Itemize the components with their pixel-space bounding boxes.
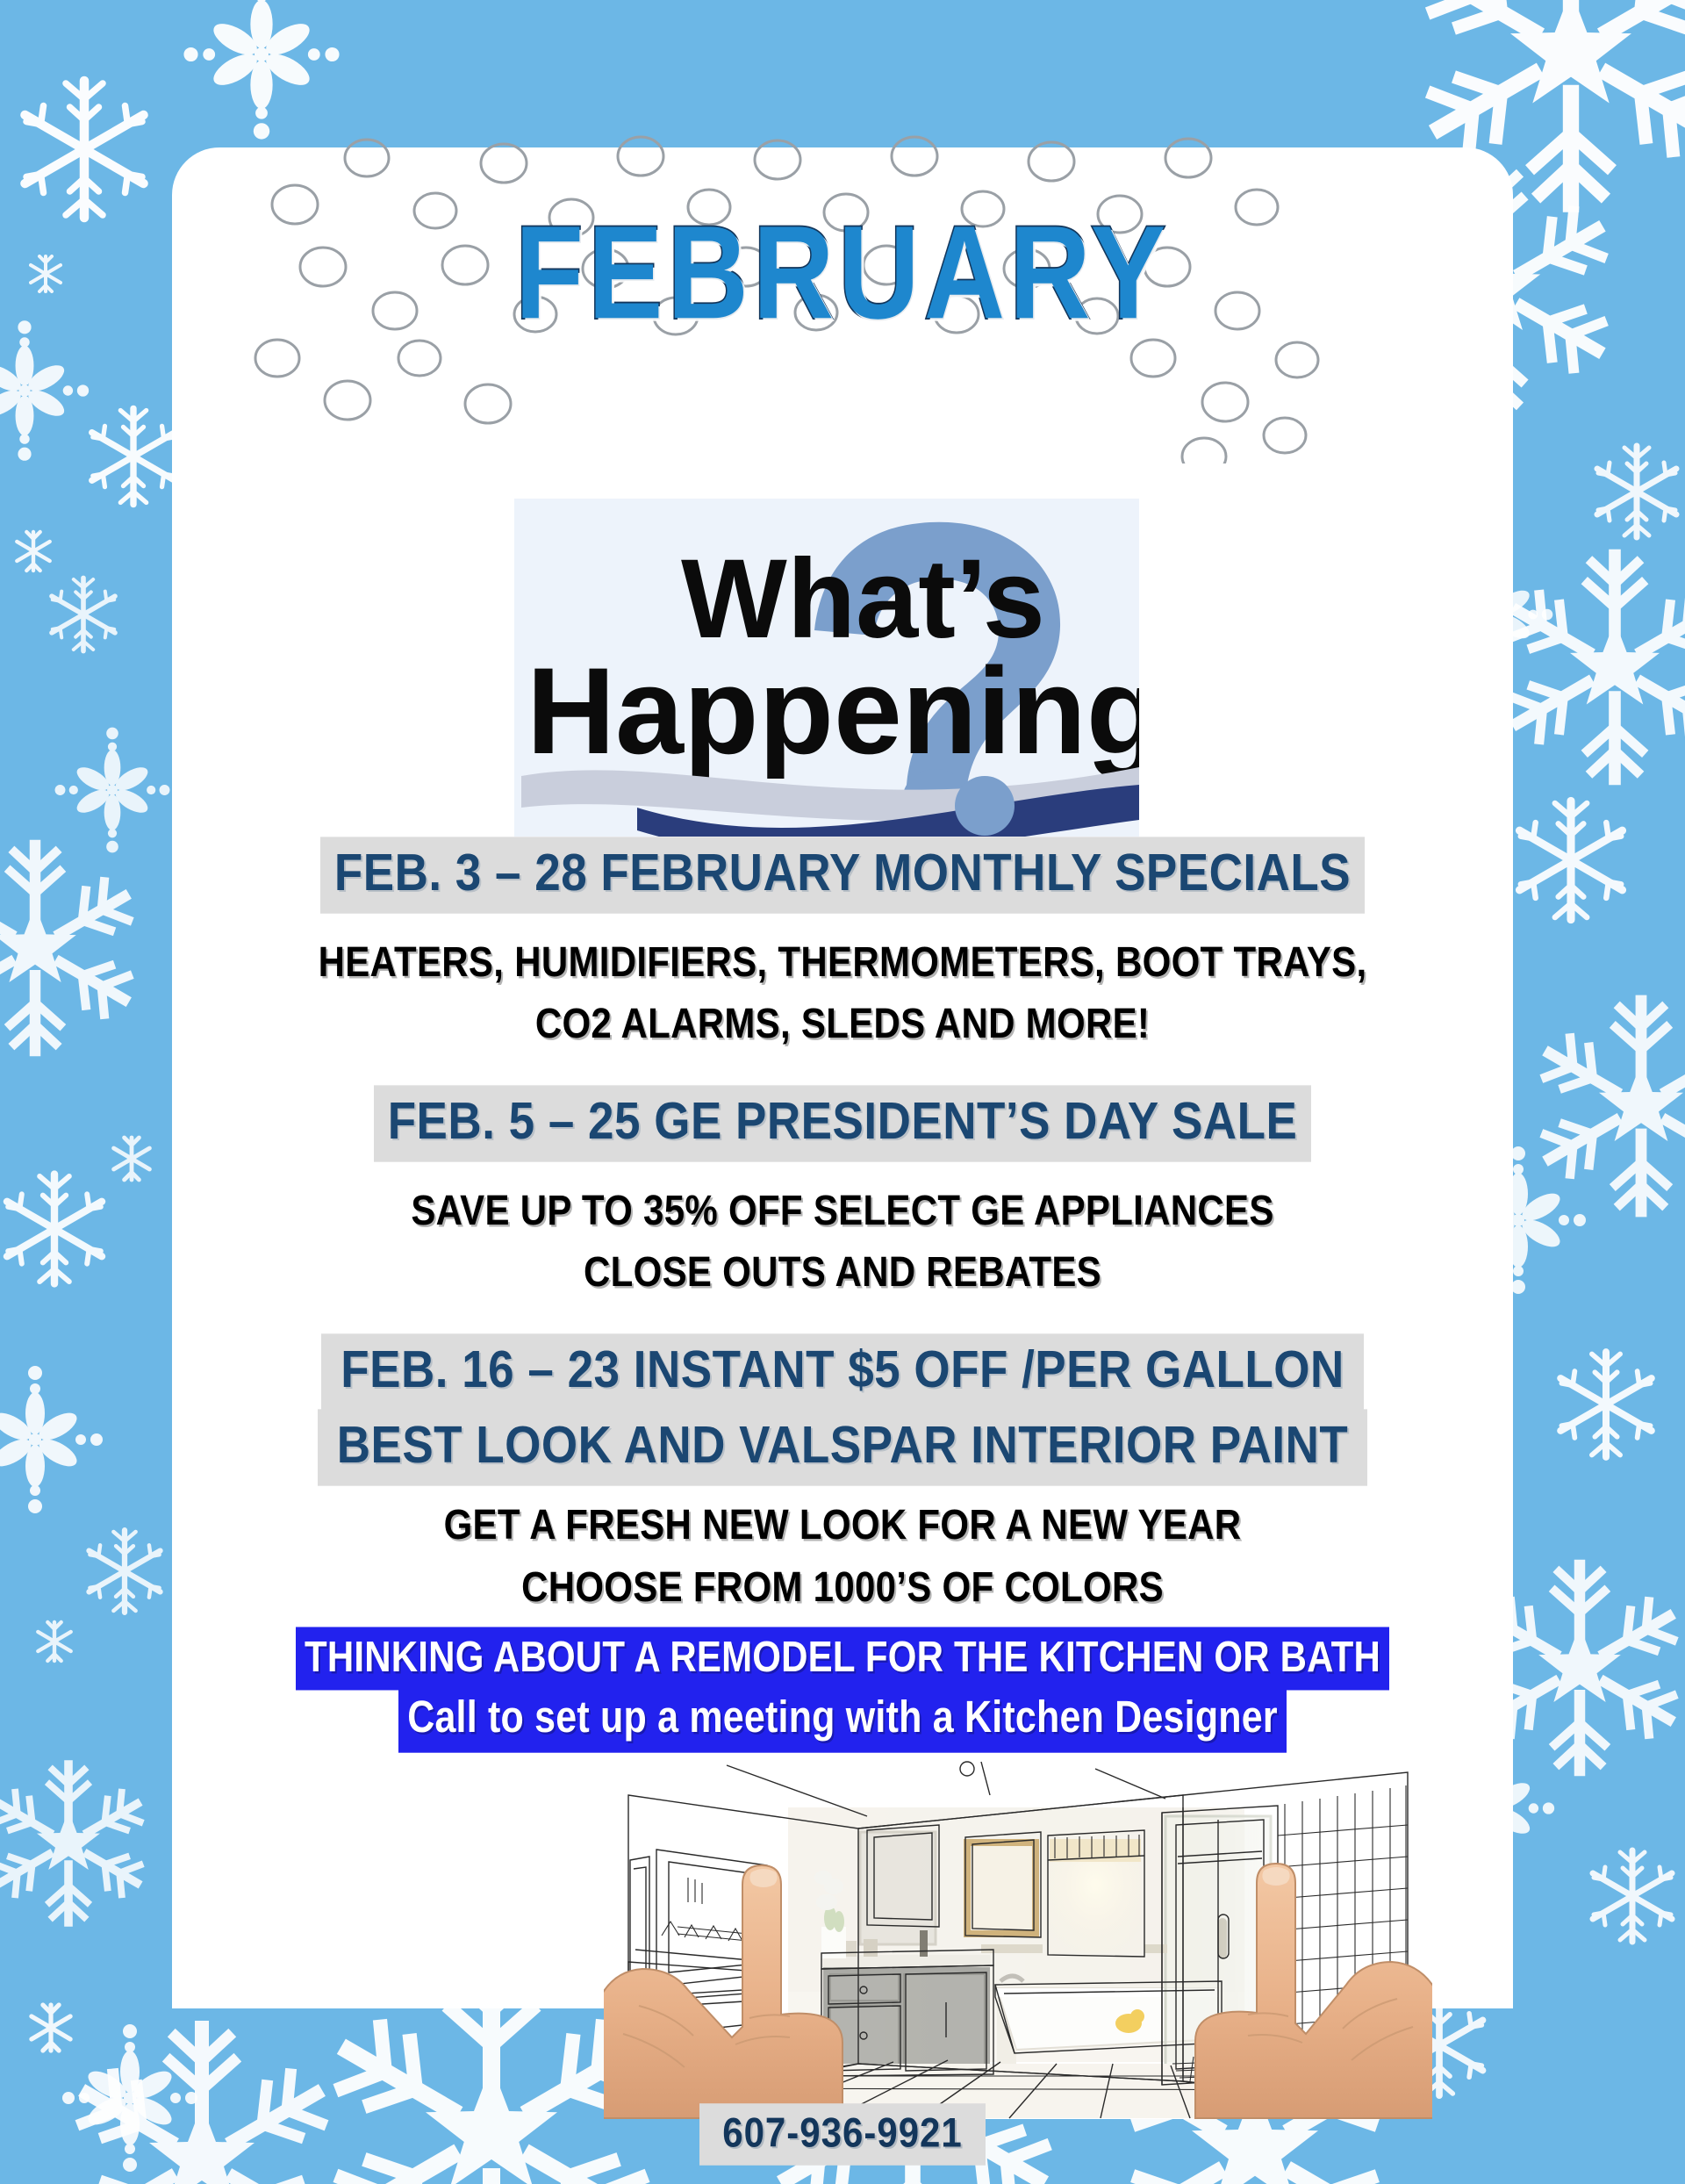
phone-number[interactable]: 607-936-9921 <box>699 2103 986 2166</box>
section-ge-presidents-day: FEB. 5 – 25 GE PRESIDENT’S DAY SALE SAVE… <box>172 1089 1513 1297</box>
phone-number-row: 607-936-9921 <box>172 2107 1513 2162</box>
section-heading-band: FEB. 3 – 28 FEBRUARY MONTHLY SPECIALS <box>320 837 1365 913</box>
logo-line-2: Happening <box>527 642 1139 779</box>
section-detail-line: CO2 ALARMS, SLEDS AND MORE! <box>535 995 1150 1052</box>
remodel-headline: THINKING ABOUT A REMODEL FOR THE KITCHEN… <box>296 1627 1389 1690</box>
section-detail-line: SAVE UP TO 35% OFF SELECT GE APPLIANCES <box>411 1182 1273 1239</box>
logo-dot <box>955 776 1015 836</box>
section-detail-line: CLOSE OUTS AND REBATES <box>584 1244 1101 1301</box>
whats-happening-logo: What’s Happening <box>514 499 1139 837</box>
section-detail-line: GET A FRESH NEW LOOK FOR A NEW YEAR <box>444 1497 1242 1554</box>
bathroom-remodel-image <box>604 1755 1432 2119</box>
section-heading-band: FEB. 16 – 23 INSTANT $5 OFF /PER GALLON <box>321 1333 1364 1410</box>
section-remodel-callout: THINKING ABOUT A REMODEL FOR THE KITCHEN… <box>172 1632 1513 1748</box>
header-zone: FEBRUARY <box>172 95 1513 463</box>
page-title-february: FEBRUARY <box>172 207 1513 340</box>
section-detail-line: HEATERS, HUMIDIFIERS, THERMOMETERS, BOOT… <box>319 933 1367 990</box>
section-monthly-specials: FEB. 3 – 28 FEBRUARY MONTHLY SPECIALS HE… <box>172 841 1513 1049</box>
content-sections: FEB. 3 – 28 FEBRUARY MONTHLY SPECIALS HE… <box>172 841 1513 1748</box>
remodel-subline: Call to set up a meeting with a Kitchen … <box>398 1688 1287 1753</box>
section-paint-sale: FEB. 16 – 23 INSTANT $5 OFF /PER GALLON … <box>172 1338 1513 1613</box>
section-heading-band: FEB. 5 – 25 GE PRESIDENT’S DAY SALE <box>374 1085 1312 1161</box>
section-detail-line: CHOOSE FROM 1000’S OF COLORS <box>521 1559 1164 1616</box>
flyer-page-card: FEBRUARY What’s Happening FEB. 3 – 28 FE… <box>172 147 1513 2008</box>
section-heading-band-secondary: BEST LOOK AND VALSPAR INTERIOR PAINT <box>318 1409 1368 1485</box>
